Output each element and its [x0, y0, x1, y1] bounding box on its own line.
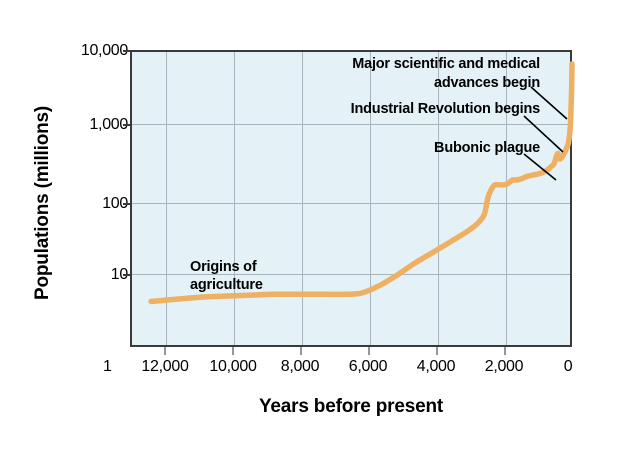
x-tick-label-0: 0: [545, 358, 591, 376]
x-axis-title: Years before present: [130, 396, 572, 418]
x-tick-mark-6000: [368, 347, 370, 355]
x-tick-mark-12000: [164, 347, 166, 355]
annotation-origins-of-agriculture: Origins of agriculture: [190, 259, 320, 294]
annotation-major-scientific: Major scientific and medical advances be…: [340, 55, 540, 92]
x-tick-mark-4000: [436, 347, 438, 355]
annotation-major-line1: Major scientific and medical: [352, 56, 540, 72]
x-tick-mark-2000: [504, 347, 506, 355]
annotation-agriculture-line2: agriculture: [190, 277, 320, 295]
x-tick-mark-8000: [300, 347, 302, 355]
x-tick-label-8000: 8,000: [265, 358, 335, 376]
population-growth-chart: Populations (millions) 10,000 1,000 100 …: [0, 0, 626, 462]
x-tick-label-10000: 10,000: [193, 358, 273, 376]
x-tick-mark-10000: [232, 347, 234, 355]
annotation-bubonic-plague: Bubonic plague: [330, 139, 540, 158]
annotation-industrial-line1: Industrial Revolution begins: [351, 101, 540, 117]
annotation-industrial-revolution: Industrial Revolution begins: [300, 100, 540, 119]
annotation-bubonic-line1: Bubonic plague: [434, 140, 540, 156]
annotation-major-line2: advances begin: [340, 74, 540, 93]
annotation-agriculture-line1: Origins of: [190, 259, 256, 275]
x-axis-origin-label: 1: [103, 358, 112, 376]
leader-line-bubonic: [524, 154, 556, 180]
x-tick-label-2000: 2,000: [469, 358, 539, 376]
x-tick-label-4000: 4,000: [401, 358, 471, 376]
x-tick-label-6000: 6,000: [333, 358, 403, 376]
